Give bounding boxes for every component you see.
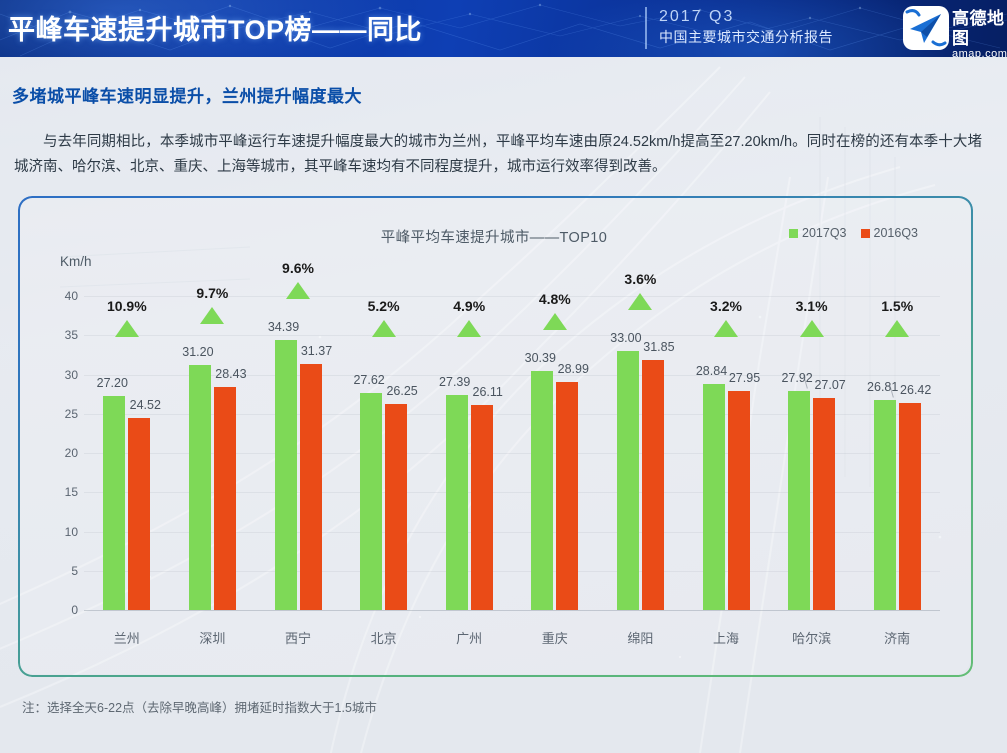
gridline xyxy=(84,414,940,415)
x-axis-label-6: 重庆 xyxy=(542,628,568,647)
chart-footnote: 注：选择全天6-22点（去除早晚高峰）拥堵延时指数大于1.5城市 xyxy=(22,697,377,716)
bar-2016q3[interactable] xyxy=(471,405,493,610)
growth-pct-label: 10.9% xyxy=(107,298,147,314)
growth-up-triangle-icon xyxy=(200,307,224,324)
page-header: 平峰车速提升城市TOP榜——同比 2017 Q3 中国主要城市交通分析报告 高德… xyxy=(0,0,1007,57)
growth-pct-label: 3.6% xyxy=(624,271,656,287)
bar-2017q3[interactable] xyxy=(703,384,725,610)
value-label-2017q3: 27.62 xyxy=(353,373,384,387)
bar-2017q3[interactable] xyxy=(788,391,810,610)
value-label-2016q3: 26.11 xyxy=(473,385,503,399)
growth-pct-label: 5.2% xyxy=(368,298,400,314)
x-axis-label-8: 上海 xyxy=(713,628,739,647)
x-axis-label-9: 哈尔滨 xyxy=(792,628,831,647)
x-axis-label-1: 兰州 xyxy=(114,628,140,647)
value-label-2016q3: 31.85 xyxy=(643,340,674,354)
growth-up-triangle-icon xyxy=(286,282,310,299)
bar-2017q3[interactable] xyxy=(531,371,553,610)
gridline xyxy=(84,571,940,572)
gridline xyxy=(84,492,940,493)
value-label-2017q3: 27.92 xyxy=(781,371,812,385)
y-axis-unit-label: Km/h xyxy=(60,254,92,269)
legend-label-2017q3: 2017Q3 xyxy=(802,226,846,240)
y-axis-tick-10: 10 xyxy=(48,525,78,539)
value-label-2017q3: 34.39 xyxy=(268,320,299,334)
report-name: 中国主要城市交通分析报告 xyxy=(659,28,833,47)
bar-2016q3[interactable] xyxy=(556,382,578,610)
y-axis-tick-15: 15 xyxy=(48,485,78,499)
legend-item-2016q3[interactable]: 2016Q3 xyxy=(861,226,918,240)
growth-pct-label: 9.7% xyxy=(196,285,228,301)
value-label-2016q3: 26.25 xyxy=(386,384,417,398)
value-label-2017q3: 27.20 xyxy=(97,376,128,390)
growth-up-triangle-icon xyxy=(543,313,567,330)
growth-up-triangle-icon xyxy=(800,320,824,337)
value-label-2017q3: 28.84 xyxy=(696,364,727,378)
legend-swatch-2016q3 xyxy=(861,229,870,238)
x-axis-label-7: 绵阳 xyxy=(627,628,653,647)
brand-url: amap.com xyxy=(952,48,1007,57)
x-axis-label-5: 广州 xyxy=(456,628,482,647)
bar-2016q3[interactable] xyxy=(728,391,750,610)
growth-pct-label: 4.9% xyxy=(453,298,485,314)
bar-2017q3[interactable] xyxy=(617,351,639,610)
growth-up-triangle-icon xyxy=(115,320,139,337)
growth-up-triangle-icon xyxy=(885,320,909,337)
growth-pct-label: 4.8% xyxy=(539,291,571,307)
value-label-2016q3: 27.95 xyxy=(729,371,760,385)
value-label-2017q3: 27.39 xyxy=(439,375,470,389)
brand-name-cn: 高德地图 xyxy=(952,9,1007,48)
bar-2016q3[interactable] xyxy=(300,364,322,610)
bar-2017q3[interactable] xyxy=(275,340,297,610)
bar-2016q3[interactable] xyxy=(642,360,664,610)
value-label-2016q3: 28.99 xyxy=(558,362,589,376)
x-axis-label-10: 济南 xyxy=(884,628,910,647)
bar-2017q3[interactable] xyxy=(189,365,211,610)
growth-pct-label: 3.2% xyxy=(710,298,742,314)
amap-paper-plane-icon xyxy=(903,6,949,50)
value-label-2017q3: 30.39 xyxy=(525,351,556,365)
growth-up-triangle-icon xyxy=(372,320,396,337)
page-title: 平峰车速提升城市TOP榜——同比 xyxy=(8,8,422,47)
x-axis-label-3: 西宁 xyxy=(285,628,311,647)
value-label-2017q3: 31.20 xyxy=(182,345,213,359)
value-label-2016q3: 31.37 xyxy=(301,344,332,358)
section-paragraph: 与去年同期相比，本季城市平峰运行车速提升幅度最大的城市为兰州，平峰平均车速由原2… xyxy=(14,130,982,180)
growth-pct-label: 3.1% xyxy=(796,298,828,314)
legend-swatch-2017q3 xyxy=(789,229,798,238)
x-axis-line xyxy=(84,610,940,611)
bar-2016q3[interactable] xyxy=(385,404,407,610)
section-title: 多堵城平峰车速明显提升，兰州提升幅度最大 xyxy=(12,82,362,107)
value-label-2017q3: 26.81 xyxy=(867,380,898,394)
y-axis-tick-35: 35 xyxy=(48,328,78,342)
value-label-2016q3: 27.07 xyxy=(814,378,845,392)
bar-2017q3[interactable] xyxy=(103,396,125,610)
bar-2016q3[interactable] xyxy=(899,403,921,610)
chart-card: 平峰平均车速提升城市——TOP10 2017Q3 2016Q3 Km/h 051… xyxy=(18,196,970,674)
value-label-2017q3: 33.00 xyxy=(610,331,641,345)
bar-2017q3[interactable] xyxy=(446,395,468,610)
y-axis-tick-0: 0 xyxy=(48,603,78,617)
header-divider xyxy=(645,7,647,49)
bar-2016q3[interactable] xyxy=(813,398,835,610)
gridline xyxy=(84,532,940,533)
bar-2017q3[interactable] xyxy=(874,400,896,610)
y-axis-tick-30: 30 xyxy=(48,368,78,382)
x-axis-label-2: 深圳 xyxy=(199,628,225,647)
brand-block: 高德地图 amap.com xyxy=(952,9,1007,57)
bar-2016q3[interactable] xyxy=(128,418,150,610)
bar-2017q3[interactable] xyxy=(360,393,382,610)
y-axis-tick-25: 25 xyxy=(48,407,78,421)
y-axis-tick-5: 5 xyxy=(48,564,78,578)
bar-2016q3[interactable] xyxy=(214,387,236,610)
growth-up-triangle-icon xyxy=(714,320,738,337)
chart-plot-area: Km/h 051015202530354027.2024.5210.9%兰州31… xyxy=(48,258,940,648)
value-label-2016q3: 26.42 xyxy=(900,383,931,397)
legend-label-2016q3: 2016Q3 xyxy=(874,226,918,240)
growth-up-triangle-icon xyxy=(628,293,652,310)
value-label-2016q3: 28.43 xyxy=(215,367,246,381)
gridline xyxy=(84,453,940,454)
x-axis-label-4: 北京 xyxy=(371,628,397,647)
y-axis-tick-40: 40 xyxy=(48,289,78,303)
legend-item-2017q3[interactable]: 2017Q3 xyxy=(789,226,846,240)
report-period: 2017 Q3 xyxy=(659,6,833,28)
y-axis-tick-20: 20 xyxy=(48,446,78,460)
growth-pct-label: 9.6% xyxy=(282,260,314,276)
growth-up-triangle-icon xyxy=(457,320,481,337)
growth-pct-label: 1.5% xyxy=(881,298,913,314)
header-subtitle-block: 2017 Q3 中国主要城市交通分析报告 xyxy=(659,6,833,46)
chart-legend: 2017Q3 2016Q3 xyxy=(789,226,918,240)
value-label-2016q3: 24.52 xyxy=(130,398,161,412)
